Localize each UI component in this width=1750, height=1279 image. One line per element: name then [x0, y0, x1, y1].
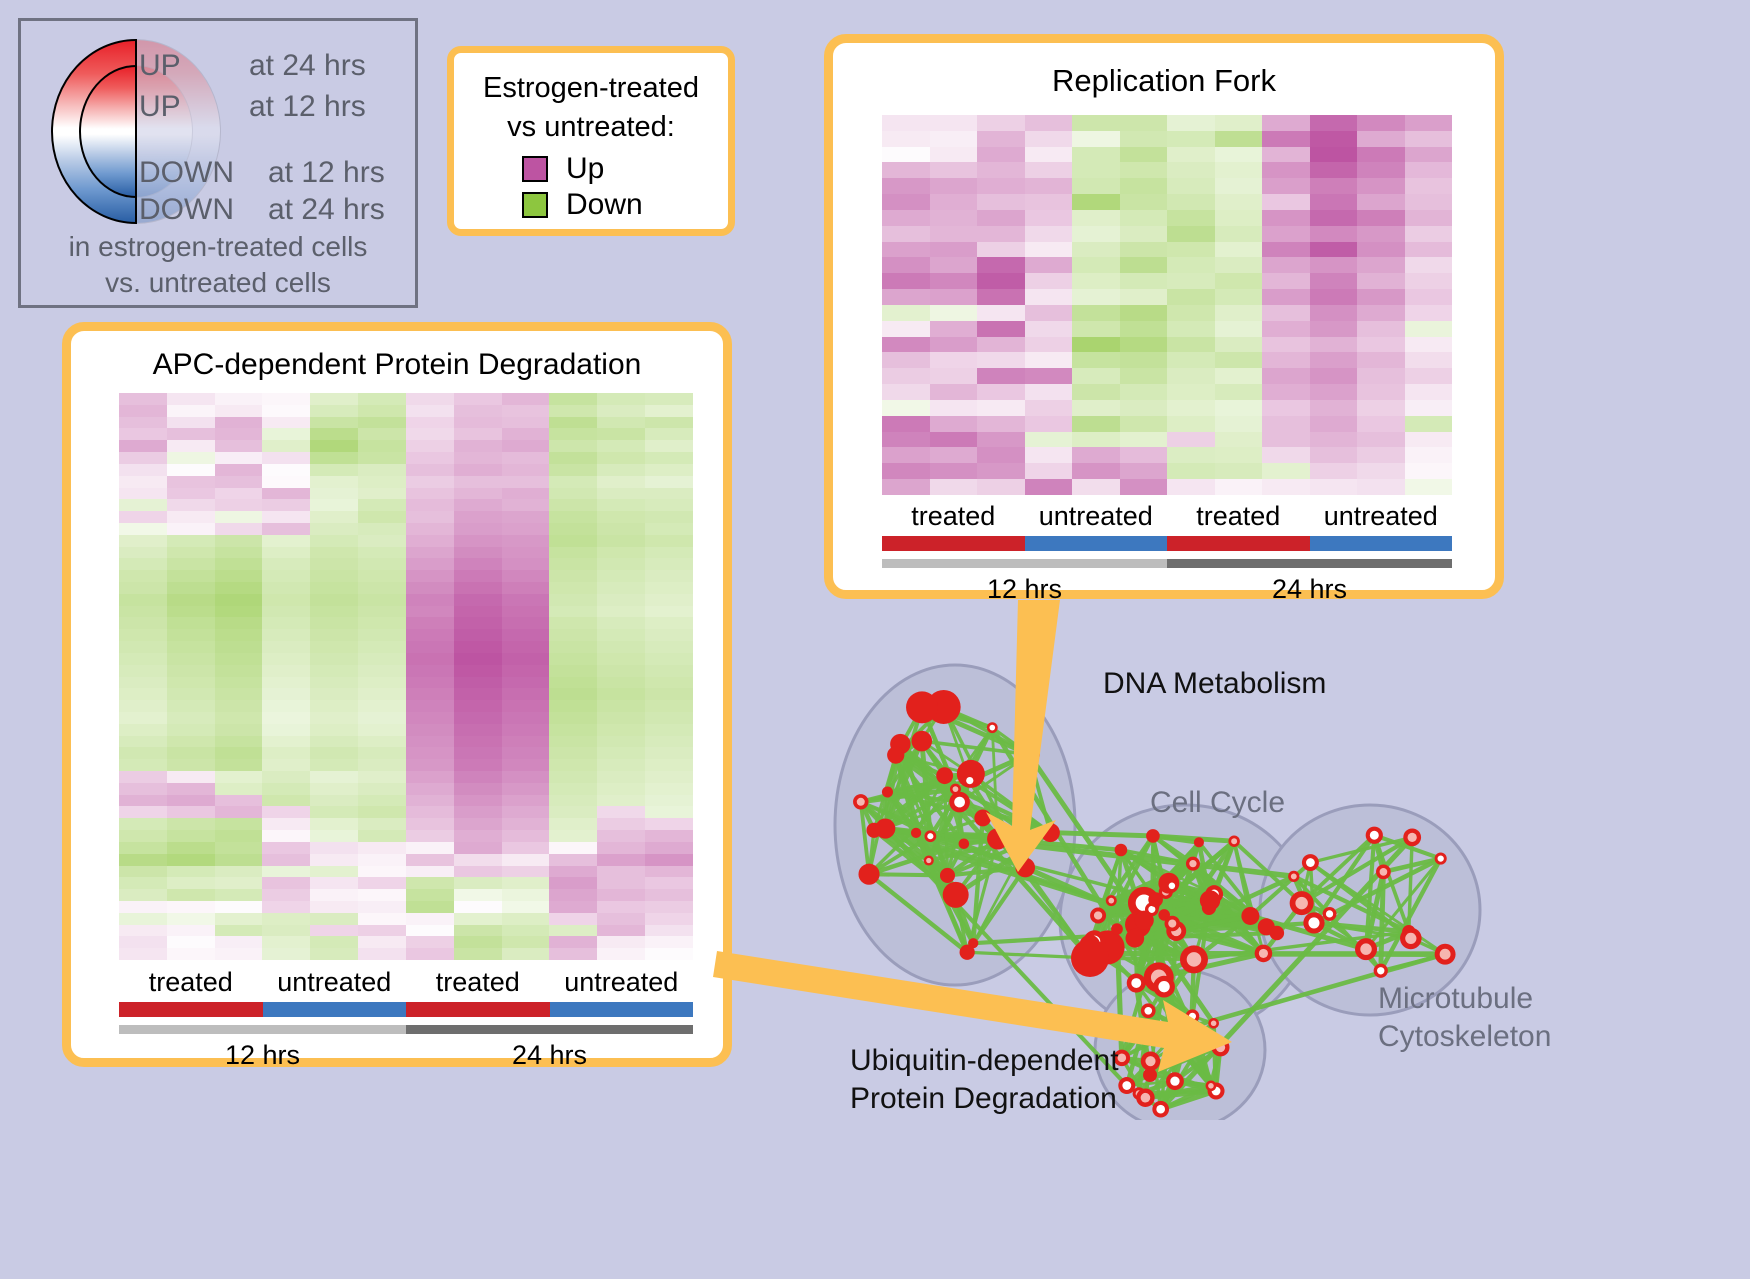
legend-down-24-label: DOWN: [139, 193, 234, 227]
heatmap-cell: [1405, 131, 1453, 147]
heatmap-cell: [1405, 400, 1453, 416]
heatmap-cell: [977, 194, 1025, 210]
heatmap-cell: [406, 523, 454, 535]
heatmap-cell: [215, 771, 263, 783]
heatmap-cell: [597, 452, 645, 464]
heatmap-cell: [215, 818, 263, 830]
heatmap-cell: [502, 866, 550, 878]
heatmap-cell: [549, 547, 597, 559]
heatmap-cell: [1262, 210, 1310, 226]
heatmap-cell: [977, 131, 1025, 147]
heatmap-cell: [597, 393, 645, 405]
heatmap-cell: [882, 194, 930, 210]
heatmap-cell: [167, 877, 215, 889]
heatmap-cell: [1215, 400, 1263, 416]
network-node-core: [1108, 898, 1114, 904]
heatmap-cell: [977, 115, 1025, 131]
heatmap-cell: [597, 712, 645, 724]
heatmap-cell: [645, 913, 693, 925]
heatmap-cell: [977, 463, 1025, 479]
heatmap-cell: [262, 653, 310, 665]
heatmap-cell: [262, 582, 310, 594]
heatmap-cell: [119, 854, 167, 866]
heatmap-cell: [930, 131, 978, 147]
heatmap-cell: [882, 115, 930, 131]
heatmap-cell: [358, 948, 406, 960]
heatmap-cell: [597, 523, 645, 535]
heatmap-cell: [215, 889, 263, 901]
heatmap-cell: [262, 606, 310, 618]
heatmap-cell: [645, 677, 693, 689]
heatmap-cell: [262, 901, 310, 913]
heatmap-cell: [215, 499, 263, 511]
heatmap-cell: [549, 925, 597, 937]
heatmap-cell: [406, 511, 454, 523]
heatmap-cell: [930, 178, 978, 194]
heatmap-cell: [215, 570, 263, 582]
heatmap-cell: [1072, 131, 1120, 147]
heatmap-cell: [645, 558, 693, 570]
heatmap-cell: [977, 368, 1025, 384]
heatmap-cell: [119, 393, 167, 405]
heatmap-cell: [549, 452, 597, 464]
heatmap-cell: [215, 665, 263, 677]
heatmap-cell: [597, 913, 645, 925]
heatmap-cell: [119, 523, 167, 535]
heatmap-cell: [262, 913, 310, 925]
heatmap-cell: [549, 499, 597, 511]
network-node-core: [1189, 860, 1196, 867]
heatmap-cell: [1310, 131, 1358, 147]
heatmap-cell: [930, 384, 978, 400]
heatmap-cell: [1310, 147, 1358, 163]
heatmap-cell: [406, 700, 454, 712]
heatmap-cell: [1167, 289, 1215, 305]
network-node-core: [1158, 981, 1169, 992]
heatmap-cell: [167, 428, 215, 440]
heatmap-cell: [597, 854, 645, 866]
heatmap-cell: [262, 393, 310, 405]
heatmap-cell: [930, 273, 978, 289]
heatmap-cell: [549, 901, 597, 913]
heatmap-cell: [406, 570, 454, 582]
figure-canvas: UP at 24 hrs UP at 12 hrs DOWN at 12 hrs…: [0, 0, 1750, 1279]
heatmap-cell: [549, 476, 597, 488]
heatmap-cell: [1357, 479, 1405, 495]
heatmap-cell: [1120, 273, 1168, 289]
heatmap-cell: [454, 759, 502, 771]
heatmap-cell: [645, 795, 693, 807]
heatmap-cell: [645, 936, 693, 948]
heatmap-cell: [406, 901, 454, 913]
heatmap-cell: [310, 677, 358, 689]
heatmap-cell: [119, 783, 167, 795]
heatmap-cell: [502, 759, 550, 771]
heatmap-cell: [645, 925, 693, 937]
network-node: [1041, 823, 1060, 842]
heatmap-cell: [549, 405, 597, 417]
heatmap-cell: [358, 570, 406, 582]
heatmap-cell: [1072, 226, 1120, 242]
heatmap-cell: [1120, 115, 1168, 131]
heatmap-cell: [930, 305, 978, 321]
heatmap-cell: [1357, 337, 1405, 353]
heatmap-cell: [167, 771, 215, 783]
network-node: [1143, 1068, 1157, 1082]
heatmap-cell: [406, 854, 454, 866]
heatmap-cell: [597, 405, 645, 417]
heatmap-cell: [645, 724, 693, 736]
heatmap-cell: [882, 273, 930, 289]
network-node-core: [1144, 1007, 1152, 1015]
heatmap-cell: [1120, 368, 1168, 384]
heatmap-cell: [502, 511, 550, 523]
heatmap-cell: [215, 393, 263, 405]
time-labels-apc-degradation: 12 hrs24 hrs: [119, 1040, 693, 1071]
heatmap-cell: [215, 866, 263, 878]
heatmap-cell: [1357, 305, 1405, 321]
heatmap-cell: [358, 688, 406, 700]
heatmap-cell: [119, 913, 167, 925]
heatmap-cell: [215, 936, 263, 948]
heatmap-cell: [645, 594, 693, 606]
heatmap-cell: [262, 594, 310, 606]
heatmap-cell: [882, 226, 930, 242]
heatmap-cell: [549, 393, 597, 405]
heatmap-cell: [1357, 416, 1405, 432]
heatmap-cell: [645, 688, 693, 700]
time-bar-apc-degradation: [119, 1025, 693, 1034]
heatmap-cell: [597, 665, 645, 677]
heatmap-cell: [1262, 115, 1310, 131]
network-node-core: [966, 777, 973, 784]
heatmap-cell: [549, 771, 597, 783]
heatmap-cell: [502, 606, 550, 618]
heatmap-cell: [597, 428, 645, 440]
heatmap-cell: [597, 925, 645, 937]
heatmap-cell: [645, 464, 693, 476]
heatmap-cell: [549, 665, 597, 677]
heatmap-cell: [645, 452, 693, 464]
heatmap-cell: [262, 889, 310, 901]
heatmap-cell: [119, 606, 167, 618]
heatmap-cell: [930, 463, 978, 479]
heatmap-cell: [167, 901, 215, 913]
heatmap-cell: [1120, 337, 1168, 353]
heatmap-cell: [549, 582, 597, 594]
heatmap-cell: [310, 736, 358, 748]
up-legend-label: Up: [566, 152, 604, 186]
heatmap-cell: [454, 417, 502, 429]
heatmap-cell: [262, 948, 310, 960]
network-node: [911, 731, 932, 752]
heatmap-cell: [1025, 432, 1073, 448]
heatmap-cell: [882, 178, 930, 194]
heatmap-cell: [549, 913, 597, 925]
heatmap-cell: [1310, 416, 1358, 432]
heatmap-cell: [1310, 178, 1358, 194]
network-node-core: [1216, 1043, 1225, 1052]
heatmap-cell: [1167, 352, 1215, 368]
heatmap-cell: [645, 606, 693, 618]
heatmap-cell: [358, 901, 406, 913]
heatmap-cell: [406, 653, 454, 665]
group-labels-apc-degradation: treateduntreatedtreateduntreated: [119, 967, 693, 998]
heatmap-cell: [502, 617, 550, 629]
heatmap-cell: [977, 226, 1025, 242]
heatmap-cell: [1357, 352, 1405, 368]
heatmap-cell: [645, 641, 693, 653]
heatmap-cell: [645, 712, 693, 724]
heatmap-cell: [406, 771, 454, 783]
network-edge: [1050, 833, 1153, 836]
heatmap-cell: [262, 736, 310, 748]
heatmap-cell: [1405, 368, 1453, 384]
heatmap-cell: [930, 257, 978, 273]
heatmap-cell: [167, 440, 215, 452]
heatmap-cell: [454, 547, 502, 559]
network-node: [1200, 890, 1220, 910]
heatmap-cell: [502, 901, 550, 913]
group-label: untreated: [1025, 501, 1168, 532]
heatmap-cell: [1405, 147, 1453, 163]
heatmap-cell: [119, 665, 167, 677]
heatmap-cell: [119, 948, 167, 960]
heatmap-cell: [1215, 447, 1263, 463]
heatmap-cell: [597, 806, 645, 818]
heatmap-cell: [1215, 416, 1263, 432]
heatmap-cell: [1262, 242, 1310, 258]
heatmap-cell: [1262, 289, 1310, 305]
heatmap-cell: [502, 582, 550, 594]
heatmap-cell: [358, 629, 406, 641]
heatmap-cell: [1025, 194, 1073, 210]
heatmap-cell: [167, 547, 215, 559]
heatmap-cell: [1357, 131, 1405, 147]
heatmap-cell: [1310, 368, 1358, 384]
heatmap-cell: [549, 641, 597, 653]
heatmap-cell: [1025, 131, 1073, 147]
heatmap-cell: [645, 570, 693, 582]
heatmap-cell: [215, 806, 263, 818]
network-node-core: [1308, 917, 1319, 928]
heatmap-cell: [262, 558, 310, 570]
heatmap-cell: [1310, 194, 1358, 210]
heatmap-cell: [119, 417, 167, 429]
heatmap-cell: [262, 795, 310, 807]
heatmap-cell: [1215, 289, 1263, 305]
network-node-core: [1438, 855, 1444, 861]
heatmap-cell: [310, 641, 358, 653]
heatmap-cell: [645, 617, 693, 629]
heatmap-cell: [549, 417, 597, 429]
heatmap-cell: [1215, 463, 1263, 479]
heatmap-cell: [262, 440, 310, 452]
heatmap-cell: [310, 582, 358, 594]
heatmap-cell: [358, 488, 406, 500]
heatmap-cell: [502, 653, 550, 665]
heatmap-cell: [1167, 337, 1215, 353]
network-node-core: [1187, 952, 1202, 967]
heatmap-cell: [406, 535, 454, 547]
heatmap-cell: [310, 877, 358, 889]
heatmap-cell: [930, 479, 978, 495]
updown-legend-box: Estrogen-treated vs untreated: Up Down: [447, 46, 735, 236]
heatmap-cell: [310, 653, 358, 665]
heatmap-cell: [262, 688, 310, 700]
heatmap-cell: [645, 830, 693, 842]
heatmap-cell: [549, 936, 597, 948]
heatmap-cell: [882, 242, 930, 258]
heatmap-cell: [1025, 337, 1073, 353]
heatmap-cell: [406, 877, 454, 889]
heatmap-cell: [1120, 289, 1168, 305]
heatmap-cell: [1025, 162, 1073, 178]
heatmap-cell: [310, 617, 358, 629]
heatmap-cell: [502, 712, 550, 724]
heatmap-cell: [1167, 432, 1215, 448]
treatment-bar-segment: [119, 1002, 263, 1017]
heatmap-cell: [1215, 352, 1263, 368]
heatmap-cell: [358, 936, 406, 948]
heatmap-cell: [310, 523, 358, 535]
heatmap-apc-degradation: [119, 393, 693, 960]
network-node-core: [1167, 1030, 1172, 1035]
heatmap-cell: [1357, 400, 1405, 416]
heatmap-cell: [645, 700, 693, 712]
heatmap-cell: [597, 866, 645, 878]
heatmap-cell: [1310, 352, 1358, 368]
heatmap-cell: [597, 724, 645, 736]
heatmap-cell: [549, 535, 597, 547]
heatmap-cell: [1405, 194, 1453, 210]
heatmap-cell: [1120, 178, 1168, 194]
heatmap-cell: [930, 368, 978, 384]
heatmap-cell: [119, 688, 167, 700]
heatmap-cell: [262, 417, 310, 429]
heatmap-cell: [262, 747, 310, 759]
heatmap-cell: [1405, 447, 1453, 463]
network-edge: [1214, 1023, 1216, 1091]
heatmap-cell: [167, 488, 215, 500]
heatmap-cell: [645, 806, 693, 818]
heatmap-cell: [645, 665, 693, 677]
heatmap-cell: [406, 417, 454, 429]
heatmap-cell: [215, 854, 263, 866]
heatmap-cell: [310, 594, 358, 606]
heatmap-cell: [882, 368, 930, 384]
heatmap-cell: [358, 405, 406, 417]
heatmap-cell: [1120, 305, 1168, 321]
network-node-core: [1122, 1081, 1131, 1090]
heatmap-cell: [310, 818, 358, 830]
heatmap-cell: [930, 194, 978, 210]
heatmap-cell: [930, 162, 978, 178]
heatmap-cell: [262, 547, 310, 559]
heatmap-cell: [310, 806, 358, 818]
heatmap-cell: [215, 842, 263, 854]
heatmap-cell: [930, 226, 978, 242]
heatmap-cell: [645, 783, 693, 795]
heatmap-cell: [310, 889, 358, 901]
heatmap-cell: [1025, 368, 1073, 384]
heatmap-cell: [1025, 447, 1073, 463]
heatmap-cell: [119, 889, 167, 901]
heatmap-cell: [119, 712, 167, 724]
heatmap-cell: [215, 617, 263, 629]
network-node: [959, 838, 970, 849]
heatmap-cell: [1072, 210, 1120, 226]
group-labels-replication-fork: treateduntreatedtreateduntreated: [882, 501, 1452, 532]
heatmap-cell: [597, 877, 645, 889]
heatmap-cell: [1215, 337, 1263, 353]
heatmap-cell: [119, 428, 167, 440]
heatmap-cell: [406, 677, 454, 689]
heatmap-cell: [597, 759, 645, 771]
heatmap-cell: [1310, 257, 1358, 273]
heatmap-cell: [1120, 416, 1168, 432]
heatmap-cell: [1310, 210, 1358, 226]
heatmap-cell: [549, 688, 597, 700]
heatmap-cell: [549, 830, 597, 842]
heatmap-cell: [167, 700, 215, 712]
heatmap-cell: [454, 830, 502, 842]
heatmap-cell: [1310, 305, 1358, 321]
heatmap-cell: [454, 866, 502, 878]
heatmap-cell: [167, 452, 215, 464]
heatmap-cell: [167, 925, 215, 937]
heatmap-cell: [167, 818, 215, 830]
treatment-bar-segment: [263, 1002, 407, 1017]
heatmap-cell: [1072, 115, 1120, 131]
heatmap-cell: [597, 547, 645, 559]
heatmap-cell: [1405, 162, 1453, 178]
heatmap-cell: [882, 463, 930, 479]
heatmap-cell: [1405, 273, 1453, 289]
heatmap-cell: [358, 677, 406, 689]
heatmap-cell: [215, 901, 263, 913]
heatmap-cell: [1262, 352, 1310, 368]
heatmap-cell: [1215, 257, 1263, 273]
heatmap-cell: [1120, 447, 1168, 463]
heatmap-cell: [167, 747, 215, 759]
heatmap-cell: [549, 795, 597, 807]
heatmap-cell: [502, 440, 550, 452]
heatmap-cell: [454, 476, 502, 488]
heatmap-cell: [358, 606, 406, 618]
heatmap-cell: [597, 476, 645, 488]
heatmap-cell: [1167, 131, 1215, 147]
heatmap-cell: [358, 417, 406, 429]
heatmap-cell: [215, 629, 263, 641]
heatmap-cell: [502, 806, 550, 818]
heatmap-cell: [406, 464, 454, 476]
colorbar-legend: UP at 24 hrs UP at 12 hrs DOWN at 12 hrs…: [18, 18, 418, 308]
heatmap-cell: [119, 747, 167, 759]
heatmap-cell: [1167, 147, 1215, 163]
heatmap-cell: [1357, 463, 1405, 479]
heatmap-cell: [930, 432, 978, 448]
heatmap-cell: [502, 464, 550, 476]
heatmap-cell: [597, 818, 645, 830]
heatmap-cell: [406, 712, 454, 724]
heatmap-cell: [119, 866, 167, 878]
heatmap-cell: [119, 464, 167, 476]
heatmap-cell: [406, 405, 454, 417]
heatmap-cell: [882, 289, 930, 305]
heatmap-cell: [645, 393, 693, 405]
heatmap-cell: [167, 889, 215, 901]
